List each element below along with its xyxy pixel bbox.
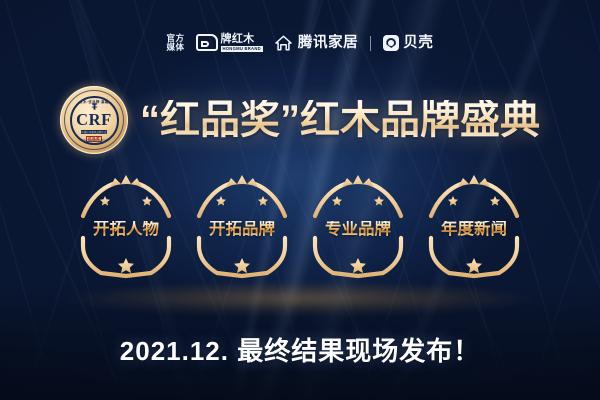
chair-icon — [89, 102, 100, 113]
tencent-home-label: 腾讯家居 — [298, 36, 358, 51]
hongmu-logo-cn: 牌红木 — [221, 34, 255, 45]
page-title: “红品奖”红木品牌盛典 — [140, 100, 540, 140]
beike-label: 贝壳 — [403, 36, 433, 51]
beike-logo: 贝壳 — [383, 35, 433, 51]
award-shield-label: 开拓人物 — [93, 221, 159, 238]
award-shield-label: 开拓品牌 — [209, 221, 275, 238]
house-icon — [274, 34, 293, 52]
seal-bottom-arc-text: CHINA ROSEWOOD FURNITURE BRAND CONFERENC… — [70, 139, 119, 142]
shield-floor-glow — [65, 282, 535, 316]
award-categories: 开拓人物 开拓品牌 专业 — [0, 172, 600, 284]
award-shield-professional-brand[interactable]: 专业品牌 — [304, 172, 412, 284]
announcement-text: 2021.12. 最终结果现场发布！ — [0, 338, 600, 364]
title-row: 中国红木·优品牌·高端品牌 CRF 中国红木家具品牌大会 红品奖 CHINA R… — [0, 86, 600, 154]
logo-bar: 官方 媒体 牌红木 HONGMU BRAND 腾讯家居 贝壳 — [0, 28, 600, 58]
hm-monogram-icon — [196, 34, 218, 51]
seal-top-arc-text: 中国红木·优品牌·高端品牌 — [70, 99, 119, 104]
official-media-label: 官方 媒体 — [167, 34, 185, 52]
award-shield-annual-news[interactable]: 年度新闻 — [420, 172, 528, 284]
tencent-home-logo: 腾讯家居 — [274, 34, 358, 52]
award-shield-pioneer-brand[interactable]: 开拓品牌 — [188, 172, 296, 284]
beike-shell-icon — [383, 35, 399, 51]
award-shield-label: 年度新闻 — [441, 221, 507, 238]
seal-sub-text: 红品奖 — [86, 136, 103, 142]
hongmu-brand-logo: 牌红木 HONGMU BRAND — [196, 34, 263, 53]
hongmu-logo-en: HONGMU BRAND — [221, 46, 263, 52]
crf-seal-badge: 中国红木·优品牌·高端品牌 CRF 中国红木家具品牌大会 红品奖 CHINA R… — [60, 86, 128, 154]
award-shield-label: 专业品牌 — [325, 221, 391, 238]
seal-letters: CRF — [76, 112, 112, 129]
logo-separator — [370, 36, 371, 51]
award-shield-pioneer-person[interactable]: 开拓人物 — [72, 172, 180, 284]
award-poster: 官方 媒体 牌红木 HONGMU BRAND 腾讯家居 贝壳 中国红木·优品牌·… — [0, 0, 600, 400]
seal-bar-text: 中国红木家具品牌大会 — [81, 130, 106, 134]
seal-bar: 中国红木家具品牌大会 — [81, 130, 107, 134]
